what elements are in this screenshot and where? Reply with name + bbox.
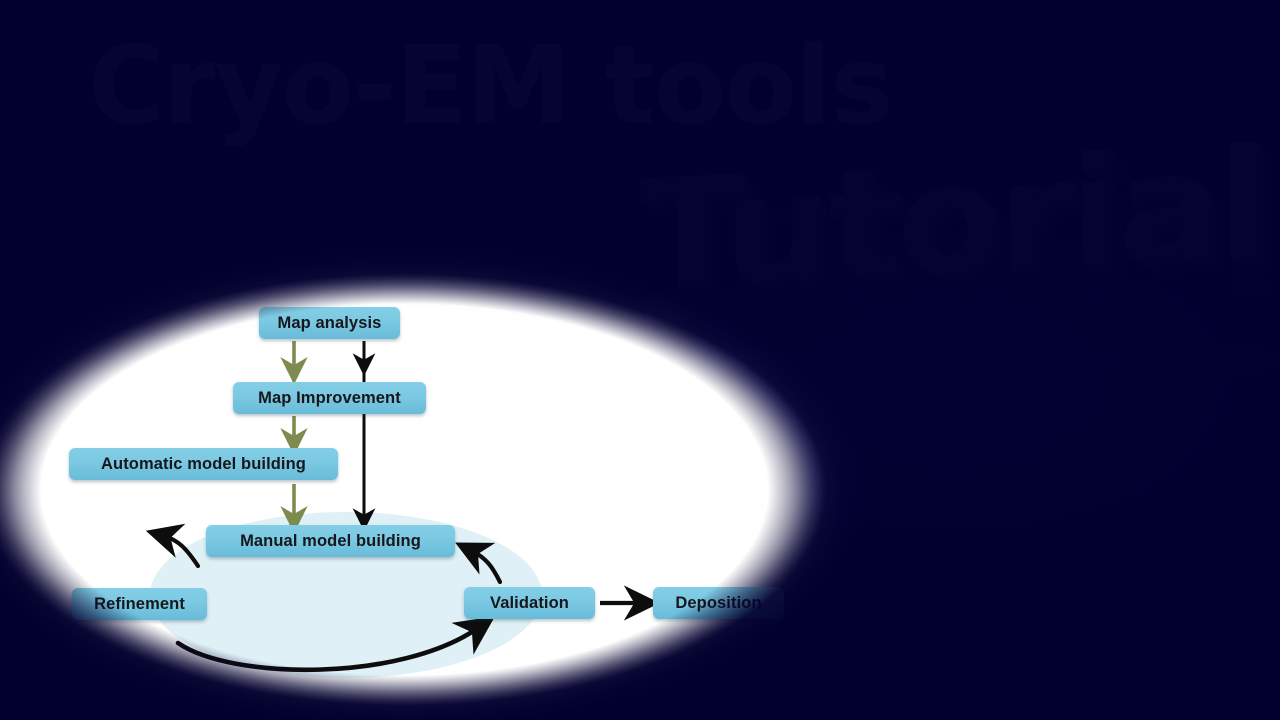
node-label: Refinement	[94, 595, 185, 614]
node-label: Manual model building	[240, 532, 421, 551]
arrow-validation-to-manual-model-building	[472, 551, 500, 582]
node-label: Deposition	[675, 594, 761, 613]
node-deposition[interactable]: Deposition	[653, 587, 784, 619]
node-refinement[interactable]: Refinement	[72, 588, 207, 620]
node-manual-model-building[interactable]: Manual model building	[206, 525, 455, 557]
node-map-analysis[interactable]: Map analysis	[259, 307, 400, 339]
arrow-refinement-to-validation	[178, 628, 478, 670]
arrow-manual-model-building-to-refinement	[164, 536, 198, 566]
node-label: Automatic model building	[101, 455, 306, 474]
cryoem-workflow-diagram: Map analysis Map Improvement Automatic m…	[0, 0, 1280, 720]
node-automatic-model-building[interactable]: Automatic model building	[69, 448, 338, 480]
slide-canvas: Tutorial Tutorial Tutorial Cryo-EM tools	[0, 0, 1280, 720]
node-label: Map analysis	[278, 314, 382, 333]
node-map-improvement[interactable]: Map Improvement	[233, 382, 426, 414]
node-label: Map Improvement	[258, 389, 401, 408]
node-validation[interactable]: Validation	[464, 587, 595, 619]
node-label: Validation	[490, 594, 569, 613]
